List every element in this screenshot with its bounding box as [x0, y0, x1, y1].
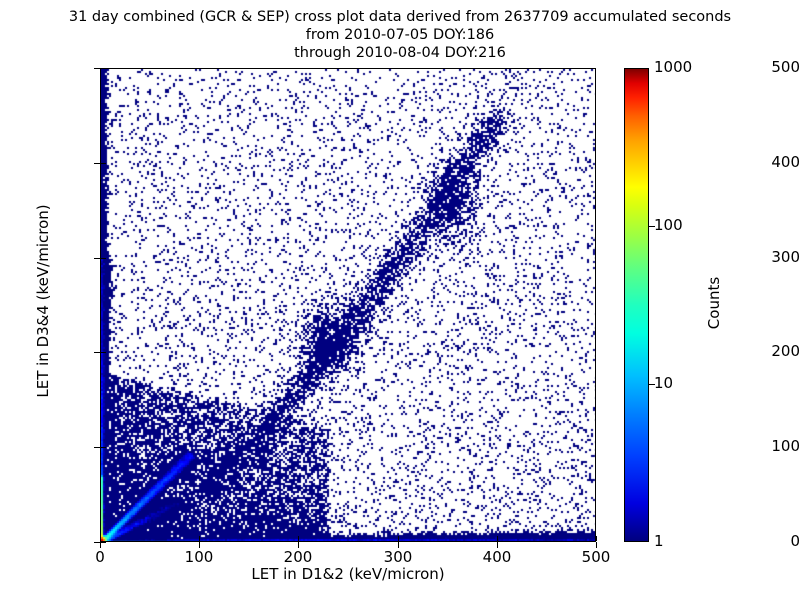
x-tick-label-400: 400 [462, 549, 532, 565]
plot-area [100, 68, 596, 542]
y-tick-label-100: 100 [716, 439, 800, 454]
x-axis-label: LET in D1&2 (keV/micron) [100, 565, 596, 583]
y-tick-label-0: 0 [716, 534, 800, 549]
colorbar-tick-label-100: 100 [654, 218, 683, 233]
colorbar-tick-label-1: 1 [654, 534, 664, 549]
y-tick-mark-inner [101, 68, 106, 69]
title-line-2: from 2010-07-05 DOY:186 [0, 26, 800, 44]
x-tick-label-300: 300 [363, 549, 433, 565]
y-tick-label-200: 200 [716, 344, 800, 359]
x-tick-mark-inner [298, 536, 299, 541]
y-tick-mark-inner [101, 352, 106, 353]
y-tick-mark-inner [101, 258, 106, 259]
y-tick-mark [94, 447, 100, 448]
x-tick-mark-inner [199, 536, 200, 541]
y-tick-label-300: 300 [716, 250, 800, 265]
y-axis-label: LET in D3&4 (keV/micron) [34, 181, 52, 421]
colorbar-tick-label-10: 10 [654, 376, 673, 391]
x-tick-mark-inner [497, 536, 498, 541]
y-tick-mark [94, 352, 100, 353]
x-tick-label-500: 500 [561, 549, 631, 565]
x-tick-mark-inner [596, 536, 597, 541]
plot-page: 31 day combined (GCR & SEP) cross plot d… [0, 0, 800, 600]
y-tick-mark [94, 163, 100, 164]
y-tick-mark-inner [101, 163, 106, 164]
x-tick-label-200: 200 [263, 549, 333, 565]
x-tick-label-0: 0 [65, 549, 135, 565]
y-tick-mark-inner [101, 542, 106, 543]
title-line-1: 31 day combined (GCR & SEP) cross plot d… [0, 8, 800, 26]
y-tick-mark [94, 68, 100, 69]
colorbar-gradient [624, 68, 649, 542]
y-tick-mark [94, 258, 100, 259]
colorbar-label: Counts [705, 223, 723, 383]
y-tick-mark-inner [101, 447, 106, 448]
x-tick-mark-inner [100, 536, 101, 541]
x-tick-label-100: 100 [164, 549, 234, 565]
y-tick-label-400: 400 [716, 155, 800, 170]
x-tick-mark-inner [398, 536, 399, 541]
y-tick-label-500: 500 [716, 60, 800, 75]
density-scatter-canvas [101, 69, 596, 542]
chart-title: 31 day combined (GCR & SEP) cross plot d… [0, 8, 800, 62]
colorbar-tick-label-1000: 1000 [654, 60, 692, 75]
